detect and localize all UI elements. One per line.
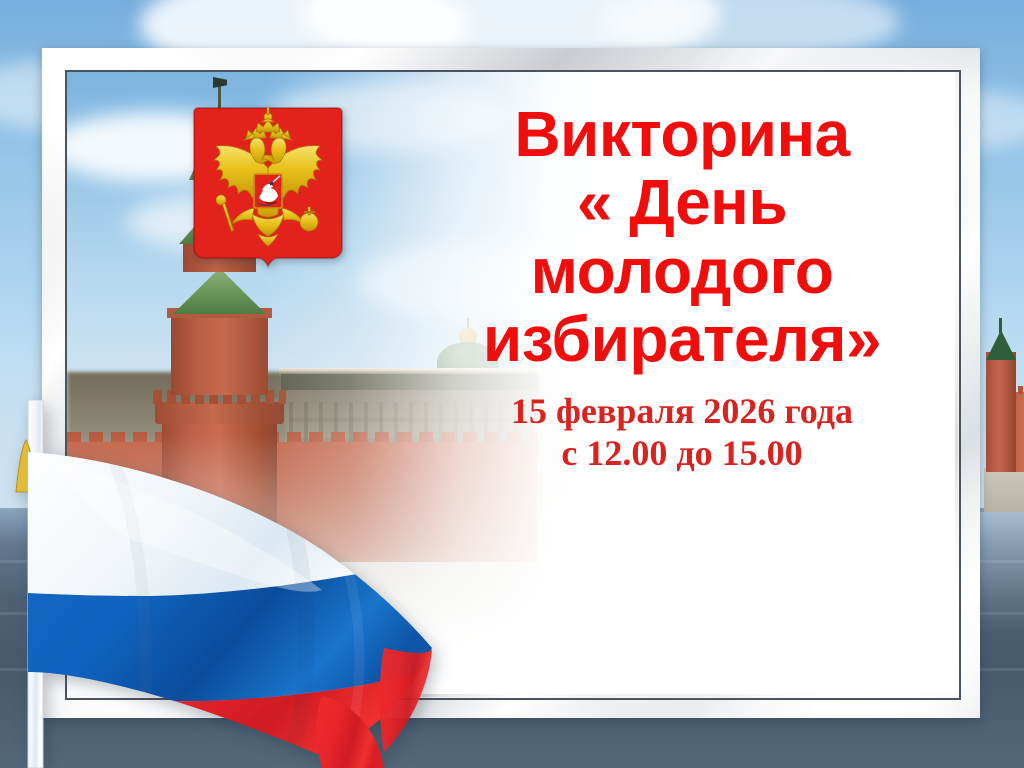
title-line-4: избирателя» [392, 305, 972, 373]
event-time: с 12.00 до 15.00 [392, 432, 972, 474]
event-date: 15 февраля 2026 года [392, 390, 972, 432]
kremlin-tower-spire [999, 318, 1002, 334]
poster-canvas: Викторина « День молодого избирателя» 15… [0, 0, 1024, 768]
title-line-1: Викторина [392, 100, 972, 168]
kremlin-tower-right [986, 352, 1016, 472]
embankment [984, 468, 1024, 512]
title-line-3: молодого [392, 237, 972, 305]
event-datetime-block: 15 февраля 2026 года с 12.00 до 15.00 [392, 390, 972, 475]
title-line-2: « День [392, 168, 972, 236]
poster-text-block: Викторина « День молодого избирателя» 15… [392, 100, 972, 475]
russian-coat-of-arms-icon [192, 102, 344, 280]
